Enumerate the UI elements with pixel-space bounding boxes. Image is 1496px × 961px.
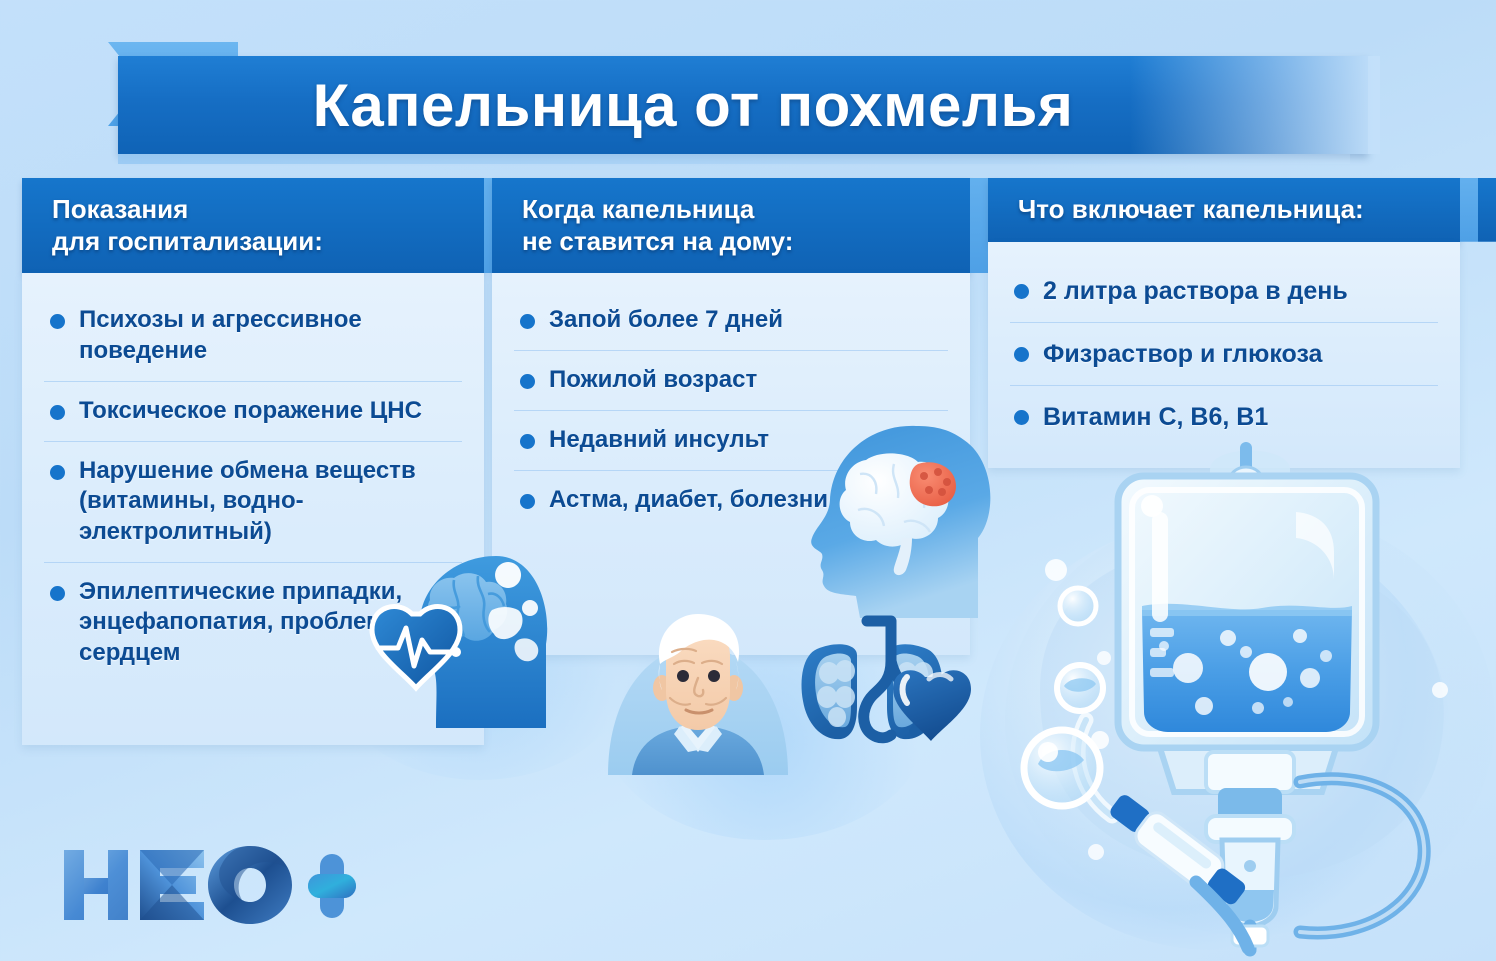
list-item: Пожилой возраст	[514, 351, 948, 411]
bullet-dot-icon	[50, 314, 65, 329]
header-line-1: Когда капельница	[522, 194, 944, 226]
header-ribbon-tail	[1460, 178, 1496, 242]
head-brain-stroke-icon	[798, 418, 1013, 618]
brand-logo[interactable]	[58, 838, 358, 930]
bullet-dot-icon	[520, 434, 535, 449]
lungs-heart-icon	[795, 615, 985, 765]
bullet-dot-icon	[1014, 284, 1029, 299]
column-hospitalization-header: Показания для госпитализации:	[22, 178, 484, 273]
header-line-2: не ставится на дому:	[522, 226, 944, 258]
bullet-dot-icon	[50, 586, 65, 601]
column-contents-header: Что включает капельница:	[988, 178, 1460, 242]
bullet-dot-icon	[50, 465, 65, 480]
iv-drip-bag-icon	[1000, 420, 1496, 960]
bullet-dot-icon	[520, 314, 535, 329]
list-item: Нарушение обмена веществ (витамины, водн…	[44, 442, 462, 563]
list-item: Запой более 7 дней	[514, 291, 948, 351]
elderly-man-avatar-icon	[606, 600, 791, 775]
title-banner: Капельница от похмелья	[0, 28, 1496, 140]
header-line-1: Показания	[52, 194, 458, 226]
head-brain-heart-ecg-icon	[368, 548, 578, 728]
bullet-dot-icon	[520, 494, 535, 509]
list-item: 2 литра раствора в день	[1010, 260, 1438, 323]
list-item: Физраствор и глюкоза	[1010, 323, 1438, 386]
banner-under-shadow	[118, 154, 1350, 164]
list-item: Токсическое поражение ЦНС	[44, 382, 462, 442]
bullet-dot-icon	[50, 405, 65, 420]
bullet-dot-icon	[1014, 347, 1029, 362]
header-line-1: Что включает капельница:	[1018, 194, 1434, 226]
list-item: Психозы и агрессивное поведение	[44, 291, 462, 381]
bullet-dot-icon	[520, 374, 535, 389]
column-not-at-home-header: Когда капельница не ставится на дому:	[492, 178, 970, 273]
header-line-2: для госпитализации:	[52, 226, 458, 258]
header-ribbon-notch	[1478, 178, 1496, 242]
page-title: Капельница от похмелья	[118, 56, 1268, 154]
